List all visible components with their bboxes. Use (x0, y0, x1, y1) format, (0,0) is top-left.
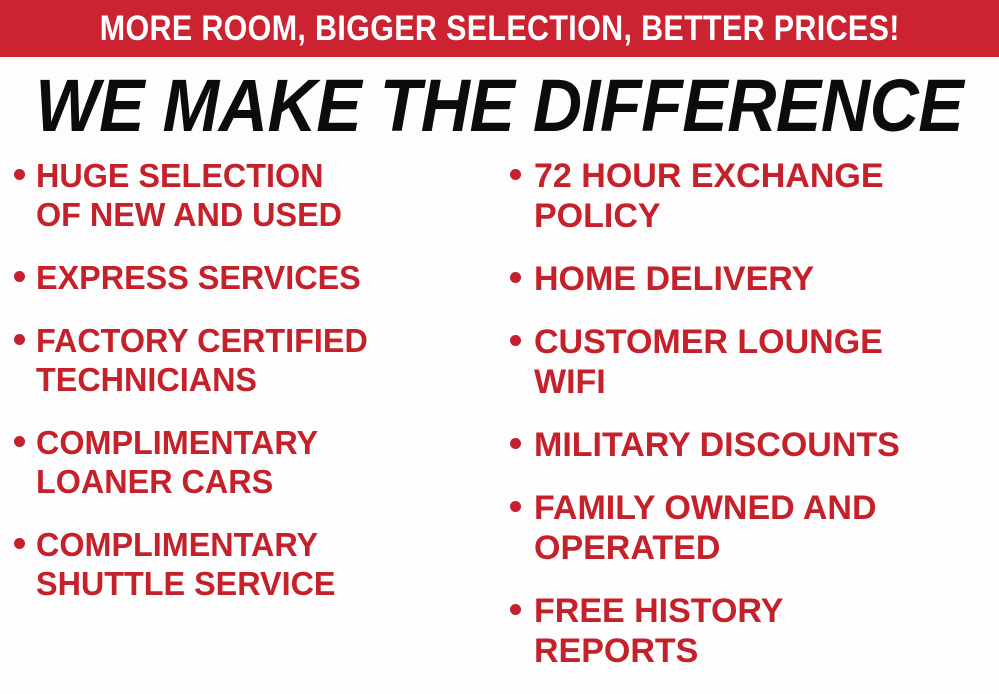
bullet-dot-icon (510, 488, 534, 528)
bullet-dot-icon (510, 425, 534, 465)
advertisement-root: MORE ROOM, BIGGER SELECTION, BETTER PRIC… (0, 0, 999, 692)
bullet-dot-icon (14, 258, 36, 297)
bullet-dot-icon (510, 156, 534, 196)
bullet-dot-icon (14, 156, 36, 195)
list-item: HUGE SELECTION OF NEW AND USED (14, 156, 496, 234)
bullet-dot-icon (510, 591, 534, 631)
headline-container: WE MAKE THE DIFFERENCE (0, 60, 999, 152)
list-item: CUSTOMER LOUNGE WIFI (510, 322, 999, 402)
bullet-dot-icon (14, 525, 36, 564)
promo-banner-text: MORE ROOM, BIGGER SELECTION, BETTER PRIC… (100, 11, 900, 47)
list-item-label: MILITARY DISCOUNTS (534, 425, 900, 465)
list-item-label: FREE HISTORY REPORTS (534, 591, 783, 671)
promo-banner: MORE ROOM, BIGGER SELECTION, BETTER PRIC… (0, 0, 999, 57)
bullet-dot-icon (510, 259, 534, 299)
list-item-label: HOME DELIVERY (534, 259, 814, 299)
list-item-label: EXPRESS SERVICES (36, 258, 361, 297)
bullet-dot-icon (14, 321, 36, 360)
list-item: 72 HOUR EXCHANGE POLICY (510, 156, 999, 236)
list-item: HOME DELIVERY (510, 259, 999, 299)
list-item-label: HUGE SELECTION OF NEW AND USED (36, 156, 342, 234)
bullet-dot-icon (510, 322, 534, 362)
list-item-label: COMPLIMENTARY SHUTTLE SERVICE (36, 525, 335, 603)
list-item: EXPRESS SERVICES (14, 258, 496, 297)
benefits-columns: HUGE SELECTION OF NEW AND USED EXPRESS S… (0, 156, 999, 692)
list-item: FREE HISTORY REPORTS (510, 591, 999, 671)
list-item: MILITARY DISCOUNTS (510, 425, 999, 465)
list-item-label: COMPLIMENTARY LOANER CARS (36, 423, 318, 501)
list-item: COMPLIMENTARY SHUTTLE SERVICE (14, 525, 496, 603)
list-item-label: FAMILY OWNED AND OPERATED (534, 488, 877, 568)
list-item: FAMILY OWNED AND OPERATED (510, 488, 999, 568)
list-item-label: FACTORY CERTIFIED TECHNICIANS (36, 321, 368, 399)
list-item-label: 72 HOUR EXCHANGE POLICY (534, 156, 884, 236)
page-title: WE MAKE THE DIFFERENCE (36, 67, 964, 145)
list-item: FACTORY CERTIFIED TECHNICIANS (14, 321, 496, 399)
list-item: COMPLIMENTARY LOANER CARS (14, 423, 496, 501)
list-item-label: CUSTOMER LOUNGE WIFI (534, 322, 883, 402)
bullet-dot-icon (14, 423, 36, 462)
benefits-column-right: 72 HOUR EXCHANGE POLICY HOME DELIVERY CU… (500, 156, 999, 694)
benefits-column-left: HUGE SELECTION OF NEW AND USED EXPRESS S… (0, 156, 500, 627)
